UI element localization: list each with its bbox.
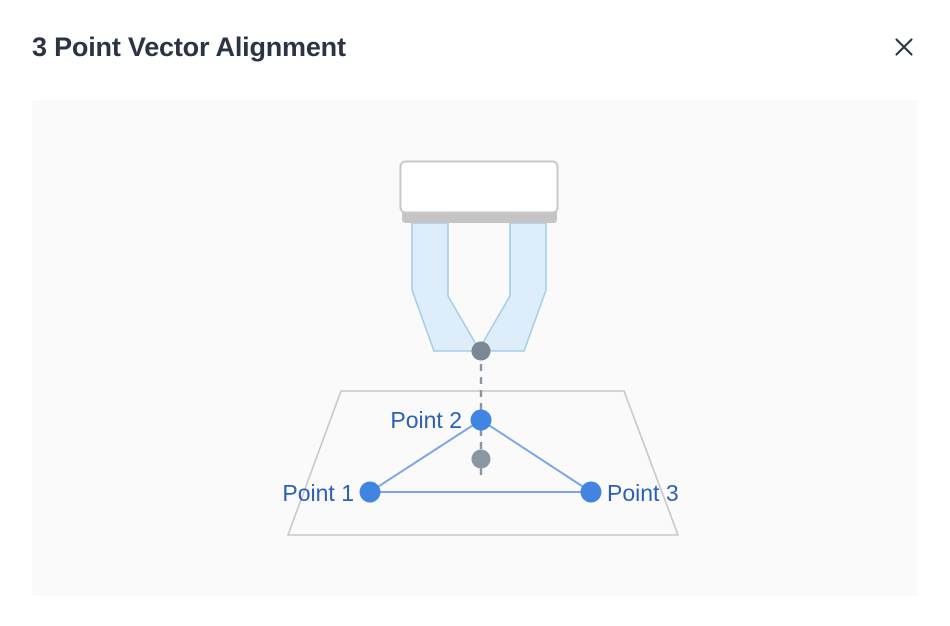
probe-prong-right (478, 223, 546, 351)
diagram-panel: Point 1 Point 2 Point 3 (32, 100, 918, 596)
probe-tip-point (472, 342, 491, 361)
alignment-diagram: Point 1 Point 2 Point 3 (32, 100, 918, 596)
point-1-label: Point 1 (282, 480, 354, 506)
dialog-card: 3 Point Vector Alignment (0, 0, 950, 626)
close-button[interactable] (882, 25, 926, 69)
probe-prong-left (412, 223, 480, 351)
point-1-marker[interactable] (360, 482, 381, 503)
alignment-point-2[interactable]: Point 2 (390, 407, 491, 433)
point-3-label: Point 3 (607, 480, 679, 506)
probe-body (401, 162, 558, 213)
close-icon (892, 35, 916, 59)
probe-gripper (401, 162, 558, 352)
alignment-point-1[interactable]: Point 1 (282, 480, 380, 506)
page-title: 3 Point Vector Alignment (32, 30, 346, 64)
point-2-marker[interactable] (471, 410, 492, 431)
dialog-header: 3 Point Vector Alignment (0, 0, 950, 100)
point-3-marker[interactable] (581, 482, 602, 503)
projected-center-point (472, 450, 491, 469)
alignment-point-3[interactable]: Point 3 (581, 480, 679, 506)
point-2-label: Point 2 (390, 407, 462, 433)
